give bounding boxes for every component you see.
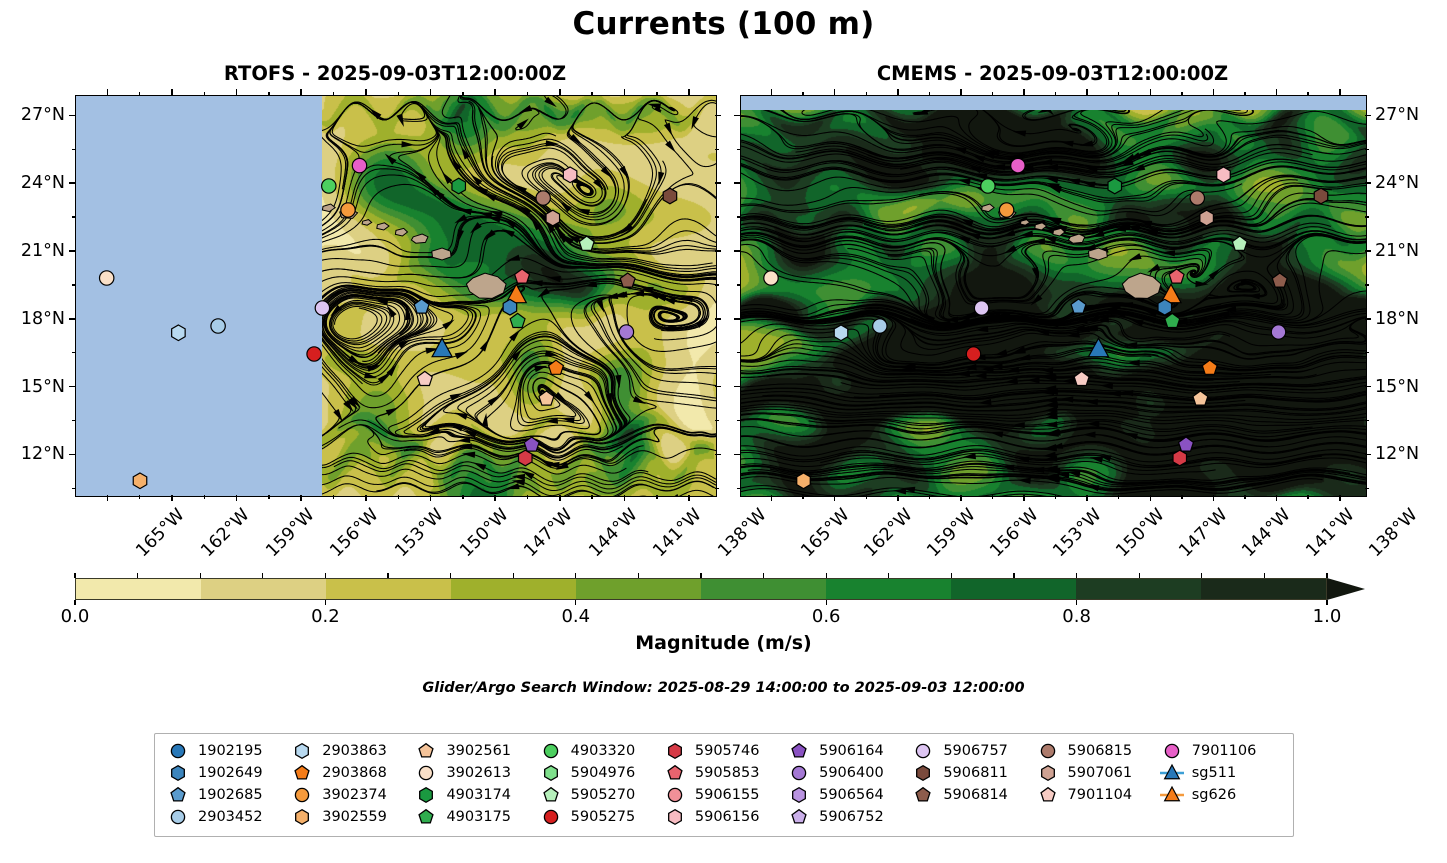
- x-tick-label: 162°W: [197, 505, 253, 561]
- x-tick-minor: [398, 495, 399, 499]
- x-tick-minor: [333, 495, 334, 499]
- y-tick-minor: [1365, 488, 1369, 489]
- x-tick-minor: [1244, 495, 1245, 499]
- legend-label: 2903863: [322, 743, 387, 759]
- legend-column: 3902561390261349031744903175: [413, 740, 537, 828]
- colorbar-tick: [826, 600, 827, 605]
- legend-item-5905746[interactable]: 5905746: [662, 740, 786, 762]
- colorbar-tick-top: [951, 573, 952, 578]
- y-tick-minor-opposite: [715, 352, 719, 353]
- y-tick-label: 27°N: [1375, 105, 1419, 125]
- colorbar-tick-label: 0.0: [61, 606, 90, 627]
- platform-marker-2903452[interactable]: [873, 319, 887, 333]
- legend-marker-pentagon-icon: [786, 807, 812, 827]
- colorbar-segment: [76, 579, 201, 599]
- colorbar-label: Magnitude (m/s): [0, 632, 1447, 654]
- y-tick-opposite: [715, 250, 721, 252]
- platform-marker-sg511[interactable]: [432, 338, 452, 356]
- legend-marker-circle-icon: [538, 741, 564, 761]
- legend-item-5906164[interactable]: 5906164: [786, 740, 910, 762]
- colorbar-tick-top: [1201, 573, 1202, 578]
- y-tick-label: 21°N: [1375, 241, 1419, 261]
- platform-marker-5906400[interactable]: [1271, 325, 1285, 339]
- y-tick: [1365, 182, 1371, 184]
- x-tick-top: [1213, 89, 1215, 95]
- legend-label: 5906815: [1068, 743, 1133, 759]
- x-tick-minor-top: [656, 92, 657, 96]
- platform-marker-5906811[interactable]: [1314, 188, 1328, 204]
- colorbar-tick: [1326, 600, 1327, 605]
- y-tick: [69, 386, 75, 388]
- platform-marker-3902613[interactable]: [100, 271, 114, 285]
- legend-marker-circle-icon: [662, 785, 688, 805]
- legend-item-5906564[interactable]: 5906564: [786, 784, 910, 806]
- x-tick-label: 141°W: [650, 505, 706, 561]
- colorbar-gradient: [75, 578, 1327, 600]
- legend-item-5905275[interactable]: 5905275: [538, 806, 662, 828]
- legend-label: 1902195: [198, 743, 263, 759]
- colorbar-segment: [1201, 579, 1326, 599]
- legend-label: 1902649: [198, 765, 263, 781]
- colorbar-tick-top: [200, 573, 201, 578]
- legend-label: 3902374: [322, 787, 387, 803]
- y-tick-minor: [72, 149, 76, 150]
- legend-label: 5905853: [695, 765, 760, 781]
- y-tick: [69, 115, 75, 117]
- platform-marker-5905853[interactable]: [1169, 269, 1184, 283]
- platform-marker-5906811[interactable]: [663, 188, 677, 204]
- x-tick-label: 138°W: [715, 505, 771, 561]
- legend-item-5907061[interactable]: 5907061: [1035, 762, 1159, 784]
- y-tick-minor: [1365, 352, 1369, 353]
- x-tick-label: 138°W: [1365, 505, 1421, 561]
- x-tick-top: [559, 89, 561, 95]
- legend-item-1902195[interactable]: 1902195: [165, 740, 289, 762]
- colorbar-tick-top: [137, 573, 138, 578]
- x-tick-minor: [1307, 495, 1308, 499]
- legend-marker-pentagon-icon: [1035, 785, 1061, 805]
- colorbar-tick-top: [74, 573, 75, 578]
- y-tick-minor: [72, 216, 76, 217]
- colorbar-tick-top: [325, 573, 326, 578]
- legend-item-2903868[interactable]: 2903868: [289, 762, 413, 784]
- legend-marker-hexagon-icon: [538, 763, 564, 783]
- legend-marker-pentagon-icon: [910, 785, 936, 805]
- colorbar-tick: [1076, 600, 1077, 605]
- legend-marker-pentagon-icon: [413, 741, 439, 761]
- legend-label: 7901104: [1068, 787, 1133, 803]
- x-tick-minor-top: [462, 92, 463, 96]
- platform-marker-1902685[interactable]: [1071, 299, 1086, 313]
- platform-marker-3902561[interactable]: [539, 391, 554, 405]
- legend-label: 3902561: [446, 743, 511, 759]
- y-tick: [1365, 318, 1371, 320]
- platform-marker-4903175[interactable]: [510, 313, 525, 327]
- platform-marker-5906400[interactable]: [619, 325, 633, 339]
- legend-marker-pentagon-icon: [538, 785, 564, 805]
- legend-item-sg626[interactable]: sg626: [1159, 784, 1285, 806]
- y-tick: [69, 182, 75, 184]
- y-tick-minor-opposite: [737, 352, 741, 353]
- legend-item-5906156[interactable]: 5906156: [662, 806, 786, 828]
- x-tick-minor: [656, 495, 657, 499]
- x-tick: [1213, 495, 1215, 501]
- legend-item-3902613[interactable]: 3902613: [413, 762, 537, 784]
- colorbar-tick: [74, 600, 75, 605]
- legend-marker-circle-icon: [165, 741, 191, 761]
- legend-item-5906400[interactable]: 5906400: [786, 762, 910, 784]
- legend-marker-pentagon-icon: [662, 763, 688, 783]
- y-tick-label: 21°N: [0, 241, 65, 261]
- legend-marker-pentagon-icon: [786, 741, 812, 761]
- legend-item-5906752[interactable]: 5906752: [786, 806, 910, 828]
- legend-marker-hexagon-icon: [662, 807, 688, 827]
- platform-marker-3902374[interactable]: [999, 203, 1013, 217]
- x-tick-top: [1023, 89, 1025, 95]
- platform-marker-4903174[interactable]: [1108, 178, 1122, 194]
- platform-marker-5906815[interactable]: [536, 191, 550, 205]
- legend-item-4903320[interactable]: 4903320: [538, 740, 662, 762]
- legend-label: 3902613: [446, 765, 511, 781]
- platform-marker-1902649[interactable]: [1158, 299, 1172, 315]
- legend-label: 2903452: [198, 809, 263, 825]
- map-panel-rtofs[interactable]: [75, 95, 717, 497]
- y-tick-minor: [72, 284, 76, 285]
- legend-label: 5905275: [571, 809, 636, 825]
- x-tick: [834, 495, 836, 501]
- marker-overlay-cmems: [741, 96, 1366, 496]
- platform-marker-7901106[interactable]: [1011, 158, 1025, 172]
- x-tick-label: 147°W: [521, 505, 577, 561]
- platform-marker-4903320[interactable]: [981, 179, 995, 193]
- y-tick-minor-opposite: [737, 216, 741, 217]
- colorbar-segment: [701, 579, 826, 599]
- platform-marker-5906757[interactable]: [974, 301, 988, 315]
- x-tick-top: [365, 89, 367, 95]
- legend-item-5904976[interactable]: 5904976: [538, 762, 662, 784]
- legend-label: 5906752: [819, 809, 884, 825]
- panel-title-rtofs: RTOFS - 2025-09-03T12:00:00Z: [75, 62, 715, 85]
- x-tick-minor: [866, 495, 867, 499]
- legend-marker-circle-icon: [786, 763, 812, 783]
- platform-marker-7901104[interactable]: [417, 371, 432, 385]
- colorbar-tick-top: [1326, 573, 1327, 578]
- x-tick-minor-top: [929, 92, 930, 96]
- x-tick: [300, 495, 302, 501]
- y-tick-minor-opposite: [715, 420, 719, 421]
- platform-marker-5907061[interactable]: [1200, 210, 1214, 226]
- platform-marker-5906156[interactable]: [563, 167, 577, 183]
- platform-marker-3902613[interactable]: [764, 271, 778, 285]
- legend-marker-circle-icon: [165, 807, 191, 827]
- x-tick: [1086, 495, 1088, 501]
- x-tick-minor-top: [1307, 92, 1308, 96]
- x-tick: [1339, 495, 1341, 501]
- x-tick-minor-top: [527, 92, 528, 96]
- x-tick-label: 156°W: [327, 505, 383, 561]
- x-tick-minor: [462, 495, 463, 499]
- x-tick-top: [236, 89, 238, 95]
- legend-item-5906757[interactable]: 5906757: [910, 740, 1034, 762]
- platform-marker-7901104[interactable]: [1074, 371, 1089, 385]
- legend-item-1902649[interactable]: 1902649: [165, 762, 289, 784]
- legend-label: sg626: [1192, 787, 1236, 803]
- y-tick-minor: [72, 352, 76, 353]
- platform-marker-5905853[interactable]: [515, 269, 530, 283]
- x-tick-minor-top: [802, 92, 803, 96]
- x-tick: [494, 495, 496, 501]
- legend-marker-triangle-line-icon: [1159, 763, 1185, 783]
- colorbar-tick-top: [1013, 573, 1014, 578]
- legend-label: 3902559: [322, 809, 387, 825]
- platform-marker-5905746[interactable]: [519, 450, 533, 466]
- platform-marker-5905270[interactable]: [579, 236, 594, 250]
- colorbar-tick-top: [1139, 573, 1140, 578]
- legend-item-sg511[interactable]: sg511: [1159, 762, 1285, 784]
- x-tick-minor: [929, 495, 930, 499]
- platform-marker-5905746[interactable]: [1173, 450, 1187, 466]
- x-tick-top: [1339, 89, 1341, 95]
- legend-marker-hexagon-icon: [662, 741, 688, 761]
- legend-item-7901104[interactable]: 7901104: [1035, 784, 1159, 806]
- colorbar-tick: [575, 600, 576, 605]
- legend-label: 4903175: [446, 809, 511, 825]
- x-tick-minor-top: [1181, 92, 1182, 96]
- legend-marker-circle-icon: [538, 807, 564, 827]
- platform-marker-4903175[interactable]: [1165, 313, 1180, 327]
- x-tick-top: [430, 89, 432, 95]
- figure-canvas: Currents (100 m) RTOFS - 2025-09-03T12:0…: [0, 0, 1447, 863]
- platform-marker-2903863[interactable]: [172, 325, 186, 341]
- platform-marker-5906156[interactable]: [1217, 167, 1231, 183]
- y-tick: [1365, 115, 1371, 117]
- x-tick-label: 141°W: [1302, 505, 1358, 561]
- x-tick: [107, 495, 109, 501]
- legend-column: 7901106sg511sg626: [1159, 740, 1285, 828]
- legend-item-2903452[interactable]: 2903452: [165, 806, 289, 828]
- colorbar-segment: [201, 579, 326, 599]
- x-tick-minor-top: [1055, 92, 1056, 96]
- page-title: Currents (100 m): [0, 6, 1447, 42]
- platform-marker-2903868[interactable]: [1202, 360, 1217, 374]
- legend-item-5906155[interactable]: 5906155: [662, 784, 786, 806]
- legend-label: 5906757: [943, 743, 1008, 759]
- x-tick-minor-top: [333, 92, 334, 96]
- x-tick-label: 150°W: [456, 505, 512, 561]
- y-tick-opposite: [734, 318, 740, 320]
- y-tick-opposite: [715, 115, 721, 117]
- legend-item-5906811[interactable]: 5906811: [910, 762, 1034, 784]
- y-tick-opposite: [734, 250, 740, 252]
- legend-column: 1902195190264919026852903452: [165, 740, 289, 828]
- platform-marker-5905270[interactable]: [1232, 236, 1247, 250]
- platform-marker-5906814[interactable]: [1272, 273, 1287, 287]
- legend-item-3902559[interactable]: 3902559: [289, 806, 413, 828]
- legend-item-4903175[interactable]: 4903175: [413, 806, 537, 828]
- platform-marker-5906815[interactable]: [1190, 191, 1204, 205]
- x-tick: [897, 495, 899, 501]
- x-tick-minor: [591, 495, 592, 499]
- y-tick-opposite: [715, 454, 721, 456]
- x-tick-label: 159°W: [262, 505, 318, 561]
- legend-item-7901106[interactable]: 7901106: [1159, 740, 1285, 762]
- legend-label: 4903174: [446, 787, 511, 803]
- legend-label: 5906814: [943, 787, 1008, 803]
- y-tick-minor-opposite: [715, 284, 719, 285]
- x-tick: [559, 495, 561, 501]
- platform-marker-3902559[interactable]: [797, 473, 811, 489]
- legend-marker-circle-icon: [1035, 741, 1061, 761]
- y-tick-label: 18°N: [1375, 309, 1419, 329]
- legend-label: 5905746: [695, 743, 760, 759]
- colorbar-tick-label: 0.4: [561, 606, 590, 627]
- legend-marker-pentagon-icon: [165, 785, 191, 805]
- colorbar: [75, 578, 1365, 600]
- legend-label: 2903868: [322, 765, 387, 781]
- y-tick-label: 12°N: [1375, 444, 1419, 464]
- y-tick-opposite: [715, 386, 721, 388]
- y-tick: [1365, 386, 1371, 388]
- y-tick: [69, 250, 75, 252]
- legend-label: 5906156: [695, 809, 760, 825]
- platform-marker-5905275[interactable]: [307, 347, 321, 361]
- x-tick-label: 153°W: [1049, 505, 1105, 561]
- legend-item-5906815[interactable]: 5906815: [1035, 740, 1159, 762]
- y-tick-minor-opposite: [737, 488, 741, 489]
- platform-marker-7901106[interactable]: [352, 158, 366, 172]
- platform-marker-5905275[interactable]: [966, 347, 980, 361]
- legend-label: 5906564: [819, 787, 884, 803]
- legend: 1902195190264919026852903452290386329038…: [154, 733, 1294, 837]
- x-tick-minor-top: [139, 92, 140, 96]
- x-tick-label: 159°W: [923, 505, 979, 561]
- y-tick-minor-opposite: [715, 488, 719, 489]
- legend-column: 2903863290386839023743902559: [289, 740, 413, 828]
- colorbar-segment: [1076, 579, 1201, 599]
- legend-item-3902374[interactable]: 3902374: [289, 784, 413, 806]
- x-tick-minor: [992, 495, 993, 499]
- legend-marker-hexagon-icon: [786, 785, 812, 805]
- legend-item-5905270[interactable]: 5905270: [538, 784, 662, 806]
- x-tick-minor: [802, 495, 803, 499]
- legend-item-1902685[interactable]: 1902685: [165, 784, 289, 806]
- colorbar-tick-top: [262, 573, 263, 578]
- legend-item-2903863[interactable]: 2903863: [289, 740, 413, 762]
- colorbar-tick-label: 1.0: [1313, 606, 1342, 627]
- legend-item-4903174[interactable]: 4903174: [413, 784, 537, 806]
- legend-column: 5906164590640059065645906752: [786, 740, 910, 828]
- legend-marker-hexagon-icon: [1035, 763, 1061, 783]
- x-tick-top: [624, 89, 626, 95]
- platform-marker-2903868[interactable]: [549, 360, 564, 374]
- platform-marker-5906757[interactable]: [315, 301, 329, 315]
- x-tick-minor: [204, 495, 205, 499]
- legend-item-5906814[interactable]: 5906814: [910, 784, 1034, 806]
- platform-marker-3902559[interactable]: [133, 473, 147, 489]
- platform-marker-4903174[interactable]: [452, 178, 466, 194]
- platform-marker-3902374[interactable]: [341, 203, 355, 217]
- legend-item-3902561[interactable]: 3902561: [413, 740, 537, 762]
- platform-marker-sg511[interactable]: [1089, 338, 1109, 356]
- x-tick: [771, 495, 773, 501]
- colorbar-tick-top: [450, 573, 451, 578]
- platform-marker-5906814[interactable]: [620, 273, 635, 287]
- x-tick-top: [171, 89, 173, 95]
- colorbar-tick-top: [387, 573, 388, 578]
- x-tick-minor-top: [866, 92, 867, 96]
- x-tick-top: [771, 89, 773, 95]
- legend-marker-pentagon-icon: [289, 763, 315, 783]
- legend-marker-circle-icon: [910, 741, 936, 761]
- colorbar-segment: [326, 579, 451, 599]
- legend-label: 5907061: [1068, 765, 1133, 781]
- platform-marker-2903863[interactable]: [834, 325, 848, 341]
- y-tick-minor: [72, 488, 76, 489]
- map-panel-cmems[interactable]: [740, 95, 1367, 497]
- legend-item-5905853[interactable]: 5905853: [662, 762, 786, 784]
- colorbar-tick-top: [1264, 573, 1265, 578]
- platform-marker-5907061[interactable]: [546, 210, 560, 226]
- y-tick-opposite: [734, 182, 740, 184]
- platform-marker-5906164[interactable]: [524, 437, 539, 451]
- legend-marker-hexagon-icon: [910, 763, 936, 783]
- x-tick-top: [1086, 89, 1088, 95]
- colorbar-segment: [951, 579, 1076, 599]
- legend-label: 1902685: [198, 787, 263, 803]
- y-tick-minor-opposite: [737, 284, 741, 285]
- y-tick: [1365, 454, 1371, 456]
- x-tick: [1023, 495, 1025, 501]
- x-tick-label: 144°W: [1239, 505, 1295, 561]
- colorbar-tick-top: [888, 573, 889, 578]
- colorbar-tick-top: [763, 573, 764, 578]
- x-tick-minor-top: [992, 92, 993, 96]
- platform-marker-4903320[interactable]: [322, 179, 336, 193]
- y-tick-minor: [1365, 284, 1369, 285]
- legend-label: 5905270: [571, 787, 636, 803]
- x-tick-label: 162°W: [860, 505, 916, 561]
- platform-marker-5906164[interactable]: [1179, 437, 1194, 451]
- colorbar-tick-label: 0.8: [1062, 606, 1091, 627]
- legend-column: 590681559070617901104: [1035, 740, 1159, 828]
- panel-title-cmems: CMEMS - 2025-09-03T12:00:00Z: [740, 62, 1365, 85]
- y-tick-minor-opposite: [737, 420, 741, 421]
- legend-marker-hexagon-icon: [289, 741, 315, 761]
- y-tick-minor: [1365, 216, 1369, 217]
- platform-marker-1902685[interactable]: [414, 299, 429, 313]
- x-tick-minor: [1118, 495, 1119, 499]
- y-tick-label: 24°N: [0, 173, 65, 193]
- x-tick-top: [960, 89, 962, 95]
- y-tick-opposite: [734, 115, 740, 117]
- legend-marker-hexagon-icon: [289, 807, 315, 827]
- x-tick-label: 165°W: [133, 505, 189, 561]
- platform-marker-2903452[interactable]: [211, 319, 225, 333]
- legend-column: 5905746590585359061555906156: [662, 740, 786, 828]
- y-tick: [69, 318, 75, 320]
- legend-marker-triangle-line-icon: [1159, 785, 1185, 805]
- y-tick-minor: [1365, 149, 1369, 150]
- legend-grid: 1902195190264919026852903452290386329038…: [165, 740, 1285, 828]
- platform-marker-1902649[interactable]: [503, 299, 517, 315]
- x-tick: [1150, 495, 1152, 501]
- platform-marker-3902561[interactable]: [1193, 391, 1208, 405]
- x-tick: [960, 495, 962, 501]
- x-tick-label: 150°W: [1113, 505, 1169, 561]
- x-tick-label: 156°W: [986, 505, 1042, 561]
- x-tick: [236, 495, 238, 501]
- colorbar-extend-arrow: [1327, 578, 1365, 600]
